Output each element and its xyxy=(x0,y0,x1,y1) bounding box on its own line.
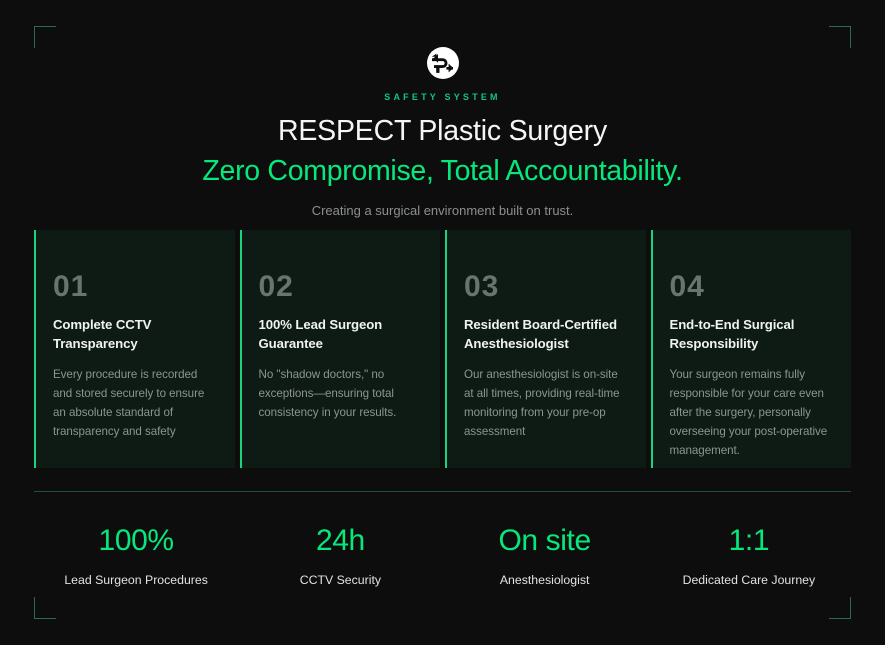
feature-card-description: Every procedure is recorded and stored s… xyxy=(53,366,219,442)
feature-card-02[interactable]: 02 100% Lead Surgeon Guarantee No "shado… xyxy=(240,230,441,468)
feature-card-number: 02 xyxy=(259,272,425,302)
feature-card-title: Resident Board-Certified Anesthesiologis… xyxy=(464,316,630,353)
feature-card-title: Complete CCTV Transparency xyxy=(53,316,219,353)
feature-card-04[interactable]: 04 End-to-End Surgical Responsibility Yo… xyxy=(651,230,852,468)
page-title: RESPECT Plastic Surgery xyxy=(0,115,885,149)
stat-value: On site xyxy=(453,524,637,559)
section-divider xyxy=(34,491,851,492)
feature-card-title: End-to-End Surgical Responsibility xyxy=(670,316,836,353)
stats-row: 100% Lead Surgeon Procedures 24h CCTV Se… xyxy=(34,524,851,588)
feature-card-title: 100% Lead Surgeon Guarantee xyxy=(259,316,425,353)
feature-card-number: 04 xyxy=(670,272,836,302)
feature-card-number: 03 xyxy=(464,272,630,302)
feature-card-01[interactable]: 01 Complete CCTV Transparency Every proc… xyxy=(34,230,235,468)
stat-item-cctv-security: 24h CCTV Security xyxy=(238,524,442,588)
stat-value: 1:1 xyxy=(657,524,841,559)
corner-bracket-top-right-icon xyxy=(829,26,851,48)
page-subtitle-accent: Zero Compromise, Total Accountability. xyxy=(0,155,885,189)
stat-value: 24h xyxy=(248,524,432,559)
stat-item-lead-surgeon: 100% Lead Surgeon Procedures xyxy=(34,524,238,588)
feature-card-03[interactable]: 03 Resident Board-Certified Anesthesiolo… xyxy=(445,230,646,468)
page-header: SAFETY SYSTEM RESPECT Plastic Surgery Ze… xyxy=(0,0,885,218)
feature-card-description: No "shadow doctors," no exceptions—ensur… xyxy=(259,366,425,423)
stat-item-anesthesiologist: On site Anesthesiologist xyxy=(443,524,647,588)
page-tagline: Creating a surgical environment built on… xyxy=(0,203,885,218)
eyebrow-label: SAFETY SYSTEM xyxy=(0,92,885,102)
respect-r-logo-icon xyxy=(426,46,460,80)
stat-label: CCTV Security xyxy=(248,572,432,588)
safety-feature-cards: 01 Complete CCTV Transparency Every proc… xyxy=(34,230,851,468)
stat-value: 100% xyxy=(44,524,228,559)
feature-card-description: Our anesthesiologist is on-site at all t… xyxy=(464,366,630,442)
brand-logo xyxy=(0,46,885,80)
feature-card-description: Your surgeon remains fully responsible f… xyxy=(670,366,836,460)
corner-bracket-bottom-left-icon xyxy=(34,597,56,619)
stat-label: Anesthesiologist xyxy=(453,572,637,588)
stat-label: Lead Surgeon Procedures xyxy=(44,572,228,588)
corner-bracket-bottom-right-icon xyxy=(829,597,851,619)
corner-bracket-top-left-icon xyxy=(34,26,56,48)
stat-item-dedicated-care: 1:1 Dedicated Care Journey xyxy=(647,524,851,588)
stat-label: Dedicated Care Journey xyxy=(657,572,841,588)
feature-card-number: 01 xyxy=(53,272,219,302)
safety-system-page: SAFETY SYSTEM RESPECT Plastic Surgery Ze… xyxy=(0,0,885,645)
